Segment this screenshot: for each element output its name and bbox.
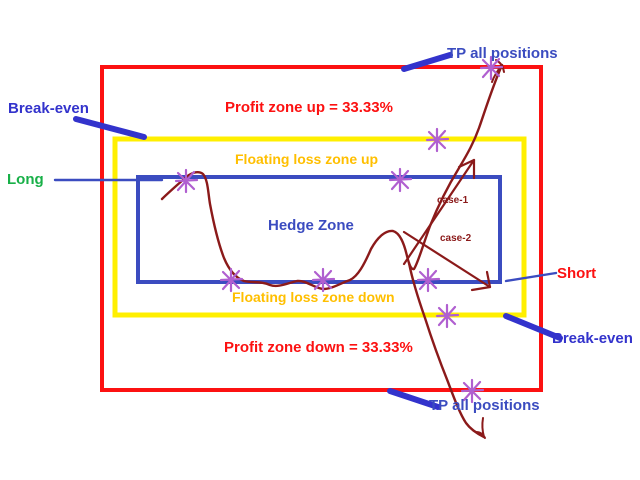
cross-marker-floating-top (427, 129, 448, 151)
label-floating-loss-zone-up: Floating loss zone up (235, 152, 378, 166)
diagram-canvas: Profit zone up = 33.33% Floating loss zo… (0, 0, 640, 480)
label-break-even-bottom-right: Break-even (552, 331, 633, 346)
label-profit-zone-down: Profit zone down = 33.33% (224, 340, 413, 355)
diagram-vector-layer (0, 0, 640, 480)
label-case-1: case-1 (437, 196, 468, 206)
label-tp-all-positions-bottom: TP all positions (429, 398, 540, 413)
cross-marker-hedge-bottom-left (221, 269, 242, 291)
cross-marker-hedge-bottom-mid (313, 269, 334, 291)
cross-marker-floating-bottom (437, 305, 458, 327)
label-long: Long (7, 172, 44, 187)
cross-marker-hedge-bottom-right (418, 269, 439, 291)
label-short: Short (557, 266, 596, 281)
short-pointer (506, 273, 556, 281)
label-tp-all-positions-top: TP all positions (447, 46, 558, 61)
label-break-even-top-left: Break-even (8, 101, 89, 116)
cross-marker-hedge-top-right (390, 169, 411, 191)
label-floating-loss-zone-down: Floating loss zone down (232, 290, 395, 304)
cross-marker-long-entry (176, 170, 197, 192)
label-case-2: case-2 (440, 234, 471, 244)
label-hedge-zone: Hedge Zone (268, 218, 354, 233)
label-profit-zone-up: Profit zone up = 33.33% (225, 100, 393, 115)
break-even-top-left-pointer (76, 119, 144, 137)
